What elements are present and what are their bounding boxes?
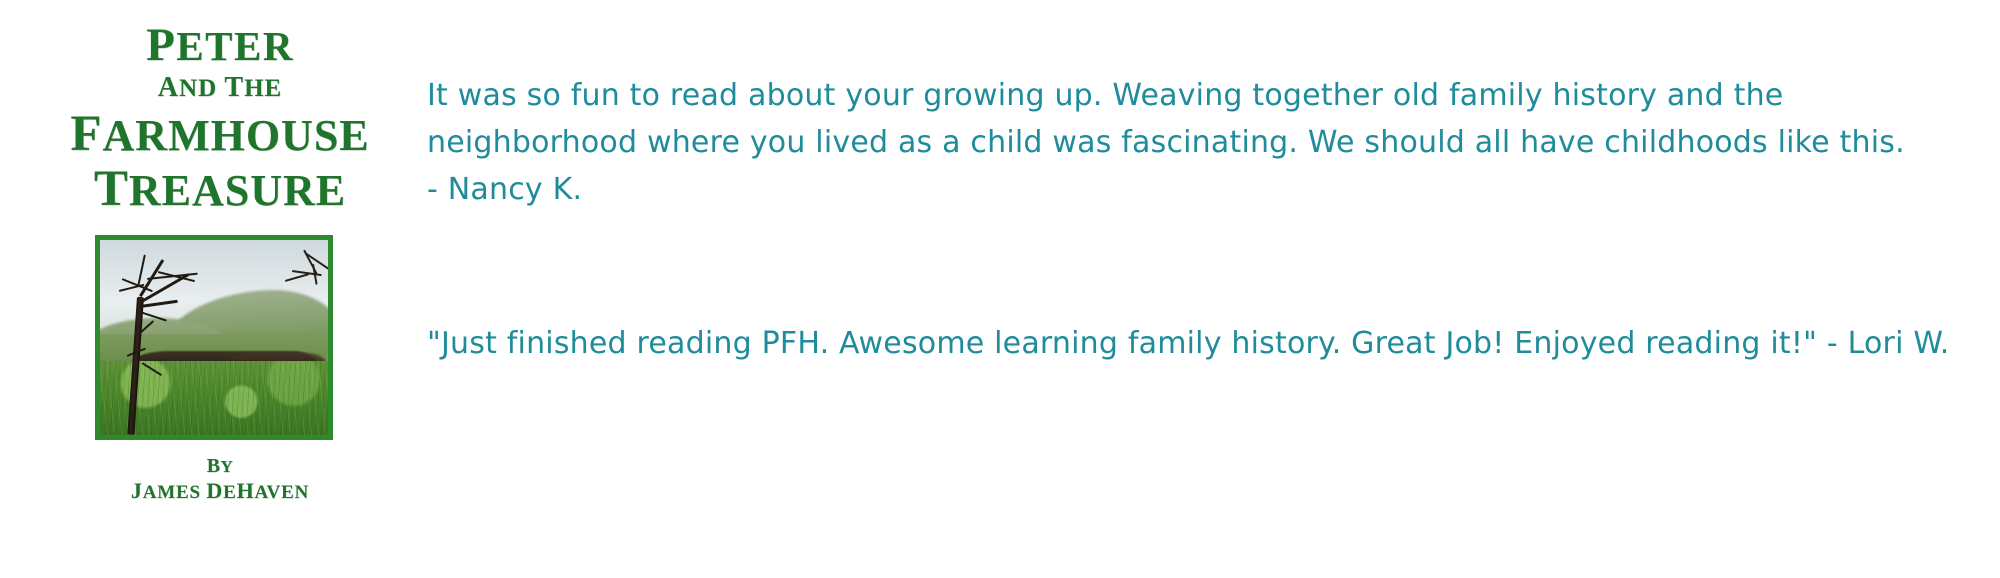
tree-branch — [142, 363, 163, 377]
book-title: PETER AND THE FARMHOUSE TREASURE — [60, 22, 380, 215]
testimonial-2: "Just finished reading PFH. Awesome lear… — [427, 320, 1957, 367]
testimonial-1-attribution: - Nancy K. — [427, 166, 1957, 213]
book-title-line-2: AND THE — [60, 74, 380, 102]
tree-branch — [284, 273, 308, 282]
tree-trunk — [128, 297, 145, 435]
testimonials-list: It was so fun to read about your growing… — [427, 72, 1957, 367]
bare-tree-left — [109, 244, 237, 435]
bare-tree-right — [264, 240, 328, 357]
author-name: JAMES DEHAVEN — [60, 478, 380, 505]
testimonial-1: It was so fun to read about your growing… — [427, 72, 1957, 213]
testimonial-1-text: It was so fun to read about your growing… — [427, 72, 1957, 166]
testimonial-2-text: "Just finished reading PFH. Awesome lear… — [427, 320, 1957, 367]
book-title-line-1: PETER — [60, 22, 380, 69]
book-author: BY JAMES DEHAVEN — [60, 454, 380, 505]
book-cover-photo — [95, 235, 333, 440]
author-prefix: BY — [60, 454, 380, 478]
testimonials-spacer — [427, 213, 1957, 320]
farmhouse-landscape-image — [100, 240, 328, 435]
book-title-line-4: TREASURE — [60, 164, 380, 215]
book-title-line-3: FARMHOUSE — [60, 109, 380, 160]
testimonials-page: PETER AND THE FARMHOUSE TREASURE — [0, 0, 2000, 578]
book-cover[interactable]: PETER AND THE FARMHOUSE TREASURE — [60, 22, 380, 532]
tree-branch — [137, 254, 146, 287]
